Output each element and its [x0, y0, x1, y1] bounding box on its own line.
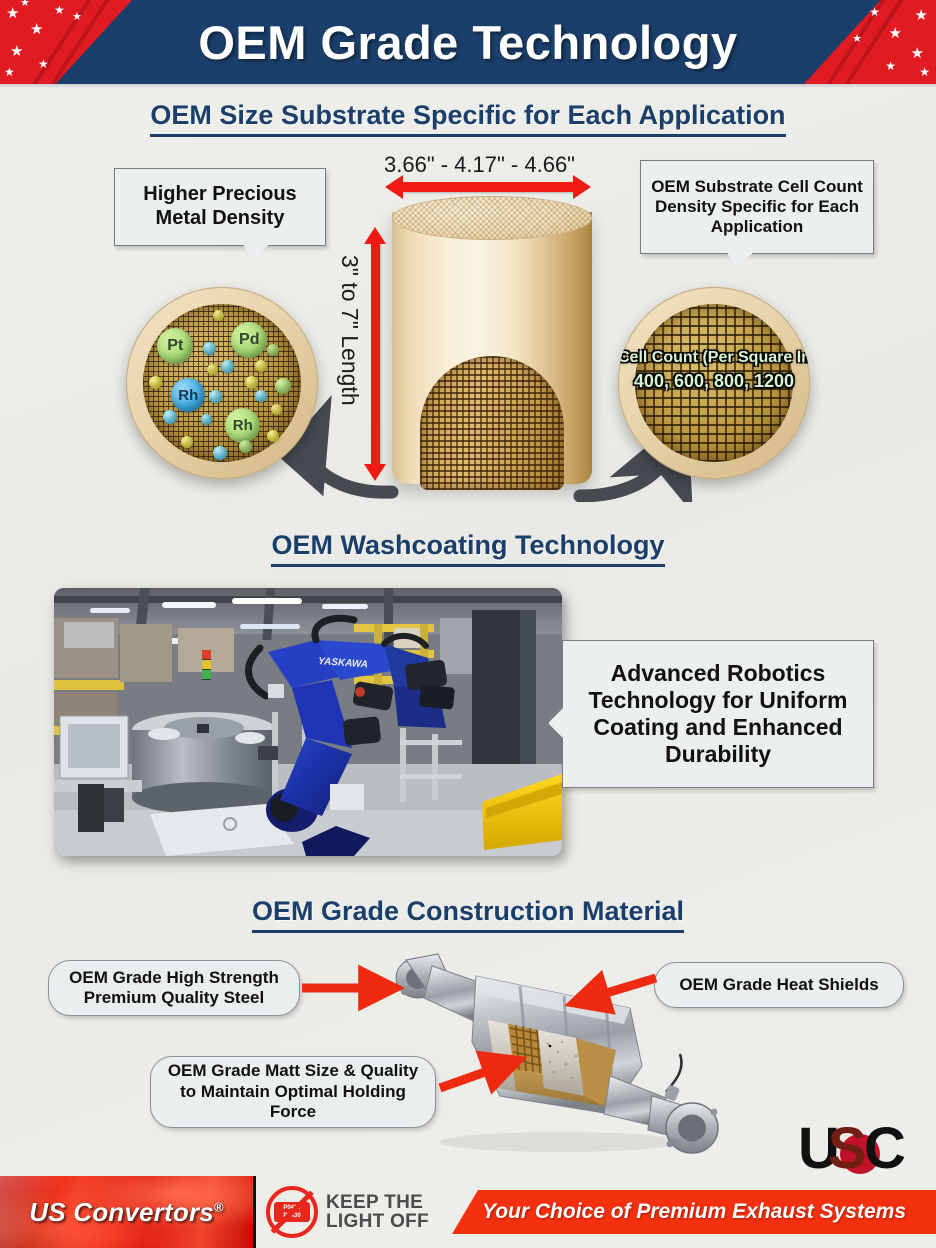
- section-title-size-text: OEM Size Substrate Specific for Each App…: [150, 100, 785, 137]
- metal-particle: [255, 360, 267, 372]
- metal-bubble-pd: Pd: [231, 322, 267, 358]
- material-arrows: [40, 940, 920, 1160]
- section-title-washcoating: OEM Washcoating Technology: [0, 530, 936, 567]
- metal-particle: [267, 430, 279, 442]
- keep-the-light-off-badge: P0420 P0430 KEEP THE LIGHT OFF: [266, 1186, 429, 1238]
- arrow-heat-shields: [590, 978, 656, 998]
- callout-advanced-robotics: Advanced Robotics Technology for Uniform…: [562, 640, 874, 788]
- infographic-page: ★ ★ ★ ★ ★ ★ ★ ★ ★ ★ ★ ★ ★ ★ ★ OEM Grade …: [0, 0, 936, 1248]
- callout-text: OEM Substrate Cell Count Density Specifi…: [649, 177, 865, 237]
- section-title-material-text: OEM Grade Construction Material: [252, 896, 684, 933]
- callout-text: Higher Precious Metal Density: [123, 183, 317, 230]
- callout-tail: [243, 245, 269, 259]
- metal-bubble-rh-blue: Rh: [171, 378, 205, 412]
- page-title: OEM Grade Technology: [0, 0, 936, 84]
- callout-text: Advanced Robotics Technology for Uniform…: [571, 660, 865, 769]
- svg-text:C: C: [864, 1118, 906, 1178]
- robotics-photo: YASKAWA: [54, 588, 562, 856]
- page-footer: US Convertors® P0420 P0430 KEEP THE LIGH…: [0, 1176, 936, 1248]
- metal-particle: [255, 390, 267, 402]
- tagline-banner: Your Choice of Premium Exhaust Systems: [452, 1190, 936, 1234]
- metal-particle: [163, 410, 177, 424]
- cell-count-title: Cell Count (Per Square Inch): [618, 349, 810, 367]
- cell-count-magnifier: Cell Count (Per Square Inch) 400, 600, 8…: [618, 287, 810, 479]
- cell-count-values: 400, 600, 800, 1200: [618, 371, 810, 392]
- metal-particle: [271, 404, 282, 415]
- page-header: ★ ★ ★ ★ ★ ★ ★ ★ ★ ★ ★ ★ ★ ★ ★ OEM Grade …: [0, 0, 936, 84]
- precious-metal-magnifier: Pt Pd Rh Rh: [126, 287, 318, 479]
- usc-logo-mark: U S S C: [798, 1118, 922, 1178]
- arrow-to-left-circle: [304, 448, 392, 492]
- metal-particle: [207, 364, 218, 375]
- tagline-text: Your Choice of Premium Exhaust Systems: [482, 1200, 906, 1224]
- metal-particle: [267, 344, 279, 356]
- metal-particle: [201, 414, 212, 425]
- metal-bubble-pt: Pt: [157, 328, 193, 364]
- diameter-arrow: [402, 182, 574, 192]
- cylinder-top-face: [392, 196, 592, 240]
- section-title-material: OEM Grade Construction Material: [0, 896, 936, 933]
- brand-name: US Convertors®: [29, 1197, 223, 1228]
- us-convertors-logo[interactable]: US Convertors®: [0, 1176, 256, 1248]
- metal-particle: [149, 376, 162, 389]
- diameter-label: 3.66" - 4.17" - 4.66": [384, 152, 575, 178]
- substrate-mesh-fine: Pt Pd Rh Rh: [143, 304, 300, 461]
- header-underline: [0, 84, 936, 88]
- section-title-washcoating-text: OEM Washcoating Technology: [271, 530, 664, 567]
- metal-bubble-rh-green: Rh: [225, 408, 260, 443]
- keep-the-light-off-text: KEEP THE LIGHT OFF: [326, 1193, 429, 1232]
- metal-particle: [275, 378, 291, 394]
- metal-particle: [213, 446, 227, 460]
- metal-particle: [181, 436, 193, 448]
- no-check-engine-light-icon: P0420 P0430: [266, 1186, 318, 1238]
- metal-particle: [209, 390, 222, 403]
- callout-higher-precious-metal-density: Higher Precious Metal Density: [114, 168, 326, 246]
- callout-tail: [727, 253, 753, 267]
- svg-text:S: S: [828, 1118, 867, 1178]
- callout-oem-substrate-cell-count: OEM Substrate Cell Count Density Specifi…: [640, 160, 874, 254]
- metal-particle: [213, 310, 224, 321]
- section-title-size: OEM Size Substrate Specific for Each App…: [0, 100, 936, 137]
- metal-particle: [203, 342, 216, 355]
- length-label: 3" to 7" Length: [336, 255, 363, 406]
- metal-particle: [221, 360, 234, 373]
- metal-particle: [239, 440, 252, 453]
- arrow-matt: [440, 1066, 502, 1088]
- metal-particle: [245, 376, 258, 389]
